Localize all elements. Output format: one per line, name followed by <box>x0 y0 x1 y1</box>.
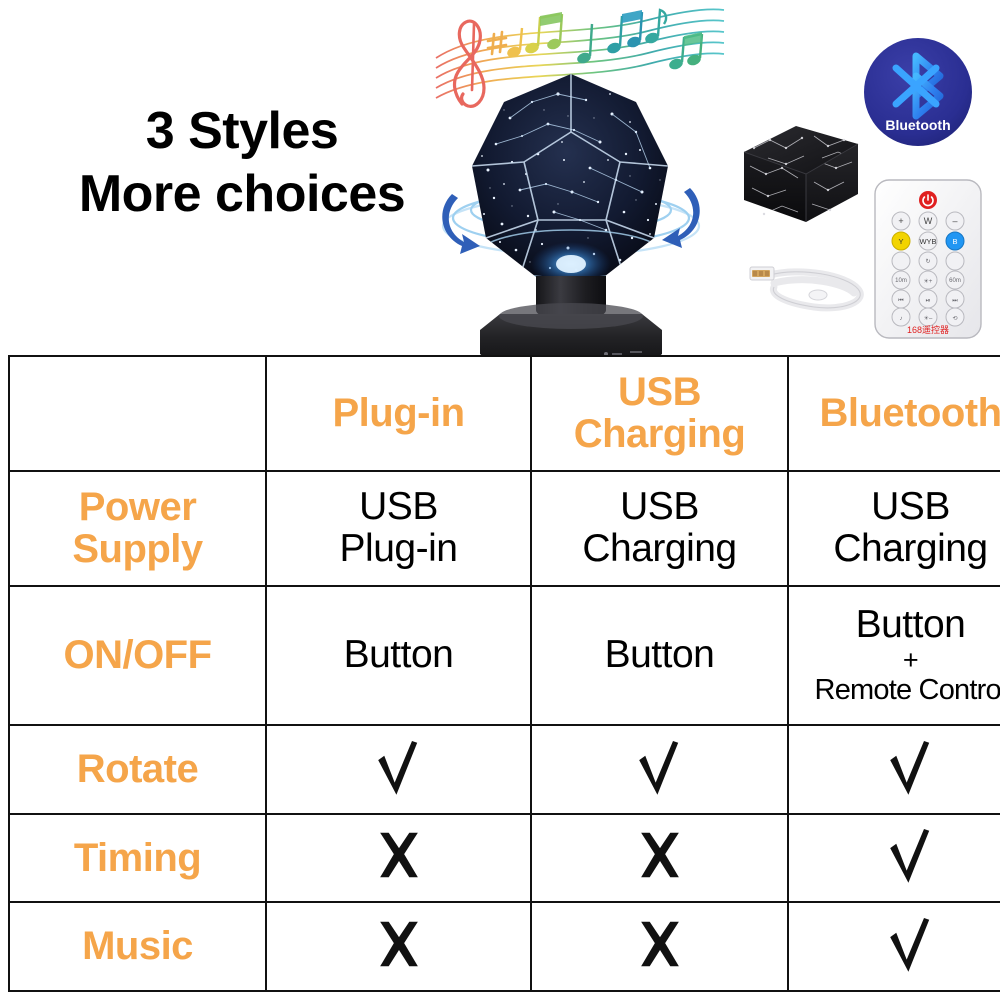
header-cell-usb-charging: USB Charging <box>531 356 788 471</box>
svg-text:♪: ♪ <box>900 316 903 322</box>
constellation-gift-box <box>730 118 870 236</box>
svg-text:Y: Y <box>898 237 903 246</box>
page-title: 3 Styles More choices <box>42 100 442 227</box>
cross-icon <box>636 831 684 879</box>
svg-text:60m: 60m <box>949 278 961 284</box>
cell-onoff-bluetooth: Button + Remote Control <box>788 586 1000 725</box>
row-label-rotate: Rotate <box>9 725 266 814</box>
table-header-row: Plug-in USB Charging Bluetooth <box>9 356 1000 471</box>
svg-text:B: B <box>952 237 957 246</box>
cell-timing-bluetooth <box>788 814 1000 903</box>
svg-text:⟲: ⟲ <box>952 316 957 322</box>
cell-rotate-usb <box>531 725 788 814</box>
comparison-table: Plug-in USB Charging Bluetooth Power Sup… <box>8 355 1000 992</box>
cross-icon <box>375 920 423 968</box>
header-cell-blank <box>9 356 266 471</box>
header-usb-line2: Charging <box>574 412 746 456</box>
check-icon <box>885 914 937 974</box>
cell-power-supply-bluetooth: USB Charging <box>788 471 1000 586</box>
svg-text:⏮: ⏮ <box>898 298 904 304</box>
table-row-rotate: Rotate <box>9 725 1000 814</box>
bluetooth-badge: Bluetooth <box>862 36 974 148</box>
table-row-timing: Timing <box>9 814 1000 903</box>
check-icon <box>634 737 686 797</box>
cross-icon <box>636 920 684 968</box>
cell-power-supply-plugin: USB Plug-in <box>266 471 531 586</box>
header-cell-plugin: Plug-in <box>266 356 531 471</box>
cell-onoff-plugin: Button <box>266 586 531 725</box>
header-bluetooth-label: Bluetooth <box>819 391 1000 435</box>
row-label-power-supply: Power Supply <box>9 471 266 586</box>
cell-music-usb <box>531 902 788 991</box>
header-usb-line1: USB <box>618 370 701 414</box>
remote-caption: 168遥控器 <box>907 324 949 335</box>
cell-power-supply-usb: USB Charging <box>531 471 788 586</box>
header-cell-bluetooth: Bluetooth <box>788 356 1000 471</box>
header-plugin-label: Plug-in <box>332 391 464 435</box>
check-icon <box>885 825 937 885</box>
bluetooth-badge-label: Bluetooth <box>885 117 950 133</box>
remote-control: +W– YWYB B ↻ 10m☀+6 <box>873 178 983 340</box>
svg-text:–: – <box>952 216 957 226</box>
cell-onoff-usb: Button <box>531 586 788 725</box>
cell-rotate-bluetooth <box>788 725 1000 814</box>
row-label-timing: Timing <box>9 814 266 903</box>
product-comparison-infographic: 3 Styles More choices <box>0 0 1000 1000</box>
table-row-power-supply: Power Supply USB Plug-in USB Charging US… <box>9 471 1000 586</box>
svg-text:↻: ↻ <box>925 258 930 265</box>
cell-music-bluetooth <box>788 902 1000 991</box>
hero-section: 3 Styles More choices <box>0 0 1000 355</box>
svg-text:⏭: ⏭ <box>952 298 958 304</box>
table-row-onoff: ON/OFF Button Button Button + Remote Con… <box>9 586 1000 725</box>
svg-text:☀–: ☀– <box>924 315 933 322</box>
usb-cable <box>740 245 880 325</box>
row-label-music: Music <box>9 902 266 991</box>
star-projector-lamp <box>440 58 702 355</box>
row-label-onoff: ON/OFF <box>9 586 266 725</box>
cell-rotate-plugin <box>266 725 531 814</box>
cross-icon <box>375 831 423 879</box>
cell-music-plugin <box>266 902 531 991</box>
headline-line-2: More choices <box>42 163 442 226</box>
cell-timing-usb <box>531 814 788 903</box>
headline-line-1: 3 Styles <box>42 100 442 163</box>
svg-text:+: + <box>898 216 903 226</box>
table-row-music: Music <box>9 902 1000 991</box>
check-icon <box>373 737 425 797</box>
svg-text:⏯: ⏯ <box>926 298 931 304</box>
svg-text:☀+: ☀+ <box>924 278 933 285</box>
svg-text:W: W <box>924 216 933 226</box>
svg-text:10m: 10m <box>895 278 907 284</box>
cell-timing-plugin <box>266 814 531 903</box>
svg-text:WYB: WYB <box>919 237 936 246</box>
check-icon <box>885 737 937 797</box>
